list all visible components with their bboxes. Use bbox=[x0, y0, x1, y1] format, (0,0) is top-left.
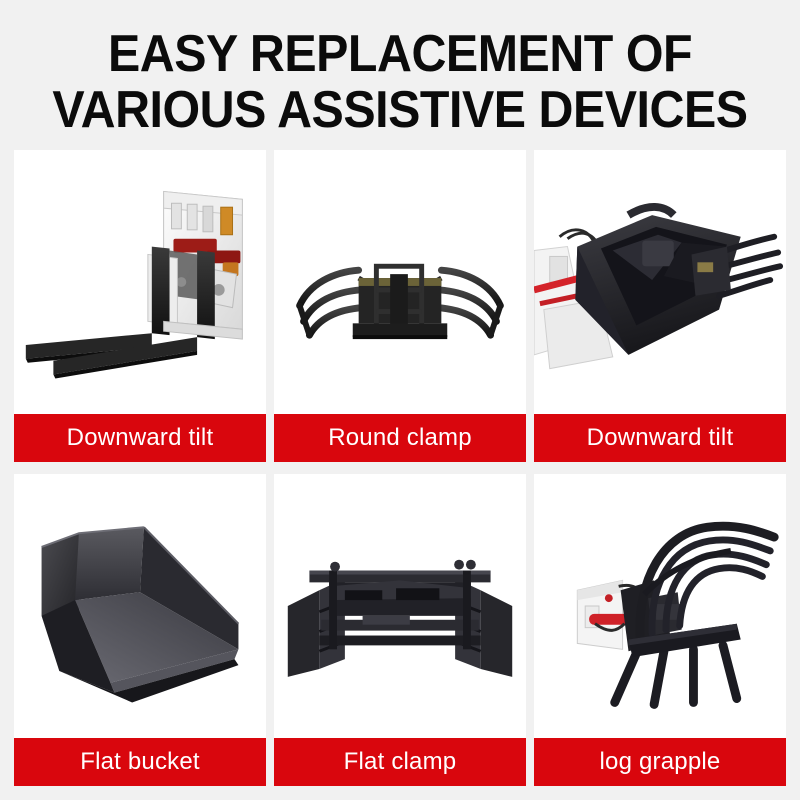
product-card-flat-clamp[interactable]: Flat clamp bbox=[274, 474, 526, 786]
product-showcase-page: EASY REPLACEMENT OF VARIOUS ASSISTIVE DE… bbox=[0, 0, 800, 800]
product-label: Downward tilt bbox=[534, 414, 786, 462]
product-label: Downward tilt bbox=[14, 414, 266, 462]
product-image-pallet-fork bbox=[14, 150, 266, 414]
product-label: Flat bucket bbox=[14, 738, 266, 786]
product-image-bucket-with-tines bbox=[534, 150, 786, 414]
page-title-line-2: VARIOUS ASSISTIVE DEVICES bbox=[28, 82, 772, 138]
page-title: EASY REPLACEMENT OF VARIOUS ASSISTIVE DE… bbox=[0, 0, 800, 138]
product-label: Round clamp bbox=[274, 414, 526, 462]
product-label: Flat clamp bbox=[274, 738, 526, 786]
product-card-log-grapple[interactable]: log grapple bbox=[534, 474, 786, 786]
product-card-round-clamp[interactable]: Round clamp bbox=[274, 150, 526, 462]
page-title-line-1: EASY REPLACEMENT OF bbox=[28, 26, 772, 82]
product-image-flat-clamp bbox=[274, 474, 526, 738]
product-image-round-clamp bbox=[274, 150, 526, 414]
product-card-flat-bucket[interactable]: Flat bucket bbox=[14, 474, 266, 786]
product-label: log grapple bbox=[534, 738, 786, 786]
product-image-flat-bucket bbox=[14, 474, 266, 738]
product-grid: Downward tilt bbox=[14, 150, 786, 786]
product-card-downward-tilt-fork[interactable]: Downward tilt bbox=[14, 150, 266, 462]
product-card-downward-tilt-bucket[interactable]: Downward tilt bbox=[534, 150, 786, 462]
product-image-log-grapple bbox=[534, 474, 786, 738]
